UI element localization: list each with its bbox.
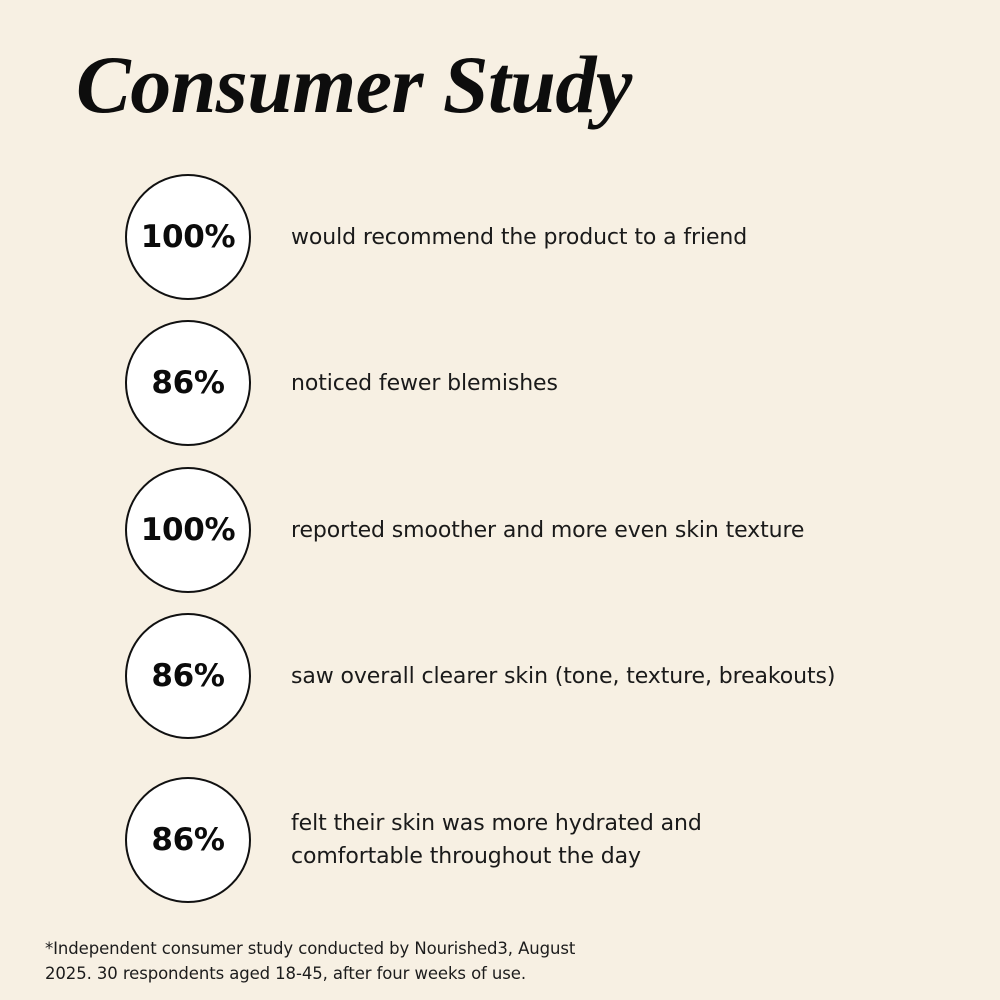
stat-row: 86% saw overall clearer skin (tone, text… — [0, 613, 1000, 739]
stat-row: 100% would recommend the product to a fr… — [0, 174, 1000, 300]
footnote: *Independent consumer study conducted by… — [45, 936, 685, 986]
stat-label: noticed fewer blemishes — [291, 320, 931, 446]
stat-label-line: saw overall clearer skin (tone, texture,… — [291, 660, 931, 693]
stat-value: 86% — [151, 825, 224, 856]
stat-label-line: noticed fewer blemishes — [291, 367, 931, 400]
stat-label: reported smoother and more even skin tex… — [291, 467, 931, 593]
stat-label: felt their skin was more hydrated and co… — [291, 777, 931, 903]
stat-row: 86% felt their skin was more hydrated an… — [0, 777, 1000, 903]
stat-circle: 86% — [125, 777, 251, 903]
stat-value: 86% — [151, 661, 224, 692]
stat-value: 86% — [151, 368, 224, 399]
stat-circle: 86% — [125, 320, 251, 446]
stat-row: 86% noticed fewer blemishes — [0, 320, 1000, 446]
stat-value: 100% — [141, 222, 236, 253]
stat-circle: 86% — [125, 613, 251, 739]
footnote-line: *Independent consumer study conducted by… — [45, 936, 685, 961]
stat-label: would recommend the product to a friend — [291, 174, 931, 300]
stat-label-line: reported smoother and more even skin tex… — [291, 514, 931, 547]
stat-label-line: would recommend the product to a friend — [291, 221, 931, 254]
stat-circle: 100% — [125, 174, 251, 300]
stat-value: 100% — [141, 515, 236, 546]
footnote-line: 2025. 30 respondents aged 18-45, after f… — [45, 961, 685, 986]
stat-label: saw overall clearer skin (tone, texture,… — [291, 613, 931, 739]
stat-label-line: felt their skin was more hydrated and — [291, 807, 931, 840]
stat-label-line: comfortable throughout the day — [291, 840, 931, 873]
page-title: Consumer Study — [76, 44, 632, 126]
stat-row: 100% reported smoother and more even ski… — [0, 467, 1000, 593]
consumer-study-infographic: Consumer Study 100% would recommend the … — [0, 0, 1000, 1000]
stat-circle: 100% — [125, 467, 251, 593]
